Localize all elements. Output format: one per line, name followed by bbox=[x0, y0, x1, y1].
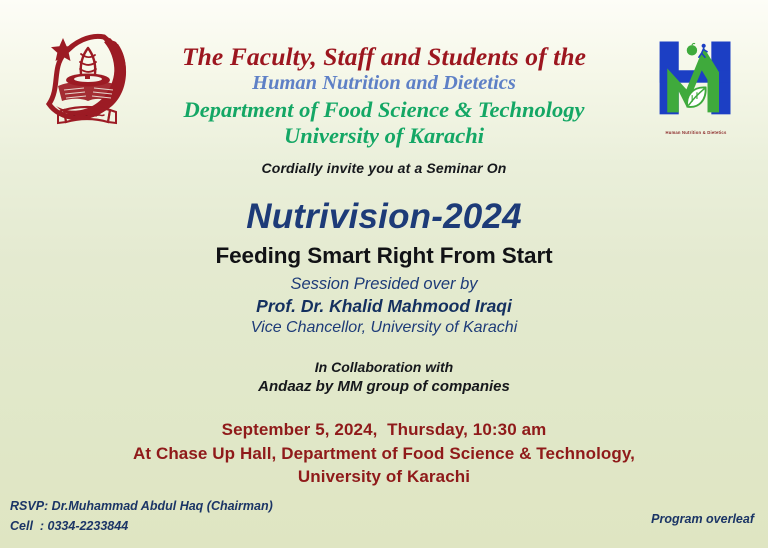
rsvp-contact-cell: Cell : 0334-2233844 bbox=[10, 517, 273, 536]
event-title: Nutrivision-2024 bbox=[60, 197, 708, 237]
collaboration-label: In Collaboration with bbox=[60, 359, 708, 375]
header-line-university: University of Karachi bbox=[140, 123, 628, 149]
human-nutrition-dietetics-logo: Human Nutrition & Dietetics bbox=[646, 30, 746, 134]
body-block: Cordially invite you at a Seminar On Nut… bbox=[60, 160, 708, 487]
rsvp-block: RSVP: Dr.Muhammad Abdul Haq (Chairman) C… bbox=[10, 497, 273, 536]
event-subtitle: Feeding Smart Right From Start bbox=[60, 243, 708, 269]
program-overleaf-note: Program overleaf bbox=[651, 512, 754, 526]
collaboration-partner: Andaaz by MM group of companies bbox=[60, 378, 708, 395]
event-venue-line-1: At Chase Up Hall, Department of Food Sci… bbox=[60, 444, 708, 464]
header-line-program: Human Nutrition and Dietetics bbox=[140, 72, 628, 95]
header-line-faculty: The Faculty, Staff and Students of the bbox=[140, 42, 628, 71]
presider-name: Prof. Dr. Khalid Mahmood Iraqi bbox=[60, 296, 708, 317]
event-venue-line-2: University of Karachi bbox=[60, 467, 708, 487]
presided-label: Session Presided over by bbox=[60, 275, 708, 294]
header-line-department: Department of Food Science & Technology bbox=[140, 97, 628, 123]
invitation-card: Human Nutrition & Dietetics The Faculty,… bbox=[0, 0, 768, 548]
header-block: The Faculty, Staff and Students of the H… bbox=[140, 42, 628, 149]
logo-caption: Human Nutrition & Dietetics bbox=[646, 130, 746, 135]
university-of-karachi-logo bbox=[38, 28, 134, 130]
rsvp-contact-name: RSVP: Dr.Muhammad Abdul Haq (Chairman) bbox=[10, 497, 273, 516]
invite-line: Cordially invite you at a Seminar On bbox=[60, 160, 708, 176]
presider-role: Vice Chancellor, University of Karachi bbox=[60, 319, 708, 337]
event-datetime: September 5, 2024, Thursday, 10:30 am bbox=[60, 420, 708, 440]
